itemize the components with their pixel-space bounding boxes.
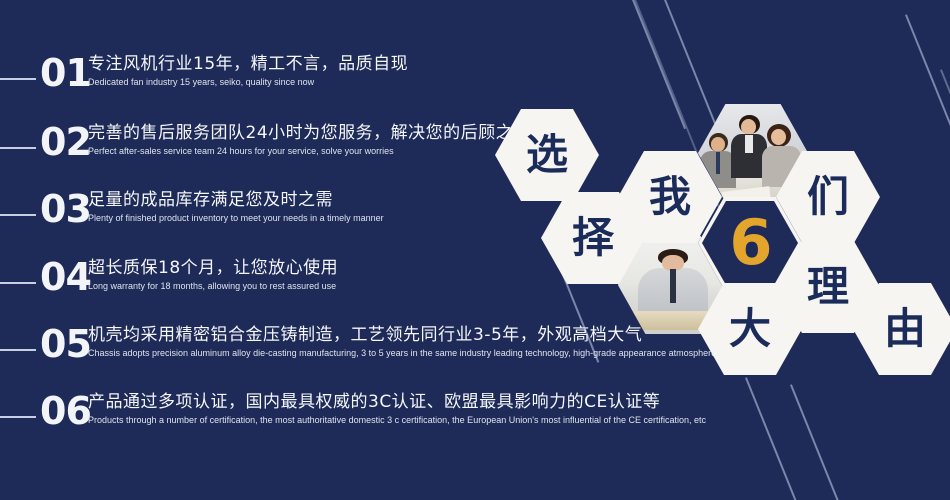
hex-xuan: 选: [495, 109, 599, 201]
hexagon-cluster: 选 我 们 择 6 理 大 由: [0, 0, 950, 500]
banner-canvas: 01 专注风机行业15年，精工不言，品质自现 Dedicated fan ind…: [0, 0, 950, 500]
hex-label: 我: [649, 176, 691, 218]
hex-label: 大: [729, 308, 771, 350]
hex-number-six: 6: [729, 212, 770, 274]
hex-label: 们: [807, 176, 849, 218]
hex-label: 选: [526, 134, 568, 176]
hex-label: 理: [807, 266, 849, 308]
hex-label: 择: [572, 217, 614, 259]
hex-label: 由: [884, 308, 926, 350]
